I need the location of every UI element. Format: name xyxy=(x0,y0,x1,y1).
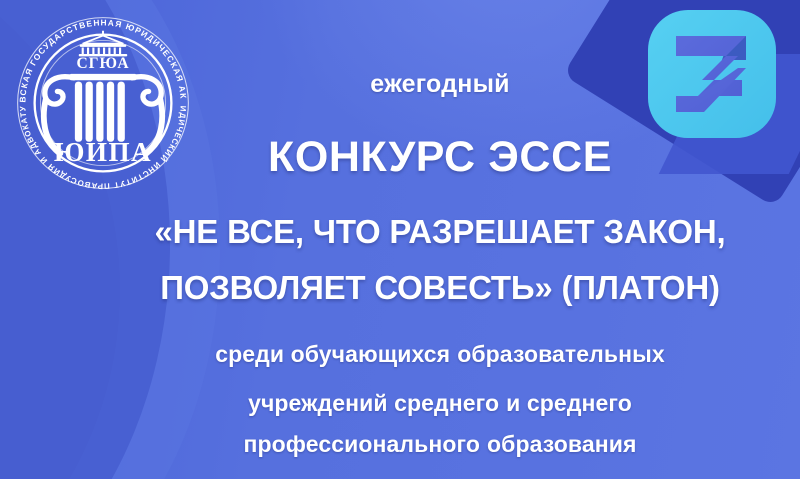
page-title: КОНКУРС ЭССЕ xyxy=(120,133,760,182)
subtitle-line-3-part-b: образования xyxy=(487,431,636,457)
subtitle-line-2-part-b: и среднего xyxy=(506,390,632,416)
subtitle-line-1: среди обучающихсяобразовательных xyxy=(120,341,760,368)
poster-canvas: САРАТОВСКАЯ ГОСУДАРСТВЕННАЯ ЮРИДИЧЕСКАЯ … xyxy=(0,0,800,479)
subtitle-line-1-part-b: образовательных xyxy=(457,341,665,367)
subtitle-line-2-part-a: учреждений среднего xyxy=(248,390,499,416)
subtitle-line-2: учреждений среднегои среднего xyxy=(120,390,760,417)
subtitle-line-3-part-a: профессионального xyxy=(244,431,480,457)
eyebrow-text: ежегодный xyxy=(120,70,760,99)
subtitle-line-1-part-a: среди обучающихся xyxy=(215,341,450,367)
quote-line-1: «НЕ ВСЕ, ЧТО РАЗРЕШАЕТ ЗАКОН, xyxy=(102,213,778,251)
subtitle-line-3: профессиональногообразования xyxy=(120,431,760,458)
quote-line-2: ПОЗВОЛЯЕТ СОВЕСТЬ» (ПЛАТОН) xyxy=(102,269,778,307)
poster-text-block: ежегодный КОНКУРС ЭССЕ «НЕ ВСЕ, ЧТО РАЗР… xyxy=(120,0,760,479)
